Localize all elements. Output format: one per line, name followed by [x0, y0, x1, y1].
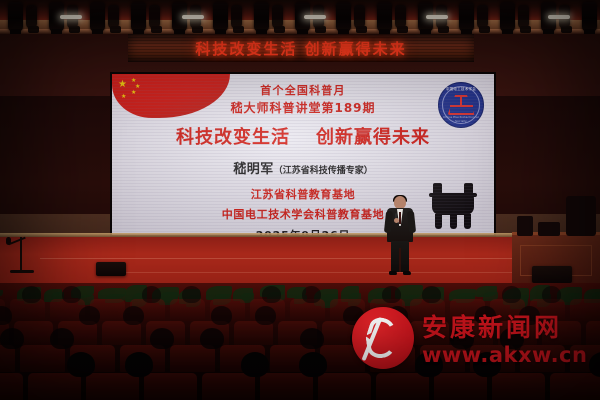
slide-speaker-affiliation: （江苏省科技传播专家） [274, 166, 373, 176]
podium-equipment-a [517, 216, 533, 236]
projection-screen: ★★ ★★★ 中国电工技术学会 China Electrotechnical S… [112, 74, 494, 235]
podium-screen-panel [566, 196, 596, 236]
slide-episode-line: 嵇大师科普讲堂第189期 [112, 99, 494, 116]
microphone-stand [6, 237, 42, 279]
venue-led-banner: 科技改变生活 创新赢得未来 [128, 34, 474, 62]
slide-main-title: 科技改变生活创新赢得未来 [112, 123, 494, 149]
auditorium-photo: 科技改变生活 创新赢得未来 ★★ ★★★ 中国电工技术学会 China Elec… [0, 0, 600, 400]
slide-series-line: 首个全国科普月 [112, 82, 494, 98]
watermark: 安康新闻网 www.akxw.cn [352, 303, 592, 379]
watermark-url: www.akxw.cn [422, 343, 587, 367]
projection-screen-frame: ★★ ★★★ 中国电工技术学会 China Electrotechnical S… [110, 72, 496, 237]
slide-speaker-name: 嵇明军 [233, 162, 274, 177]
slide-speaker-line: 嵇明军（江苏省科技传播专家） [112, 158, 494, 177]
stage-monitor-right [532, 266, 572, 283]
watermark-site-name: 安康新闻网 [422, 308, 562, 344]
bronze-ding-vessel-icon [424, 183, 482, 231]
presenter [383, 196, 417, 276]
stage-monitor-left [96, 262, 126, 276]
akxw-logo-icon [352, 307, 414, 369]
slide-title-right: 创新赢得未来 [316, 123, 430, 149]
slide-title-left: 科技改变生活 [176, 123, 290, 149]
ceiling-lighting-truss [0, 0, 600, 34]
podium-equipment-b [538, 222, 560, 236]
venue-banner-text: 科技改变生活 创新赢得未来 [195, 38, 406, 59]
